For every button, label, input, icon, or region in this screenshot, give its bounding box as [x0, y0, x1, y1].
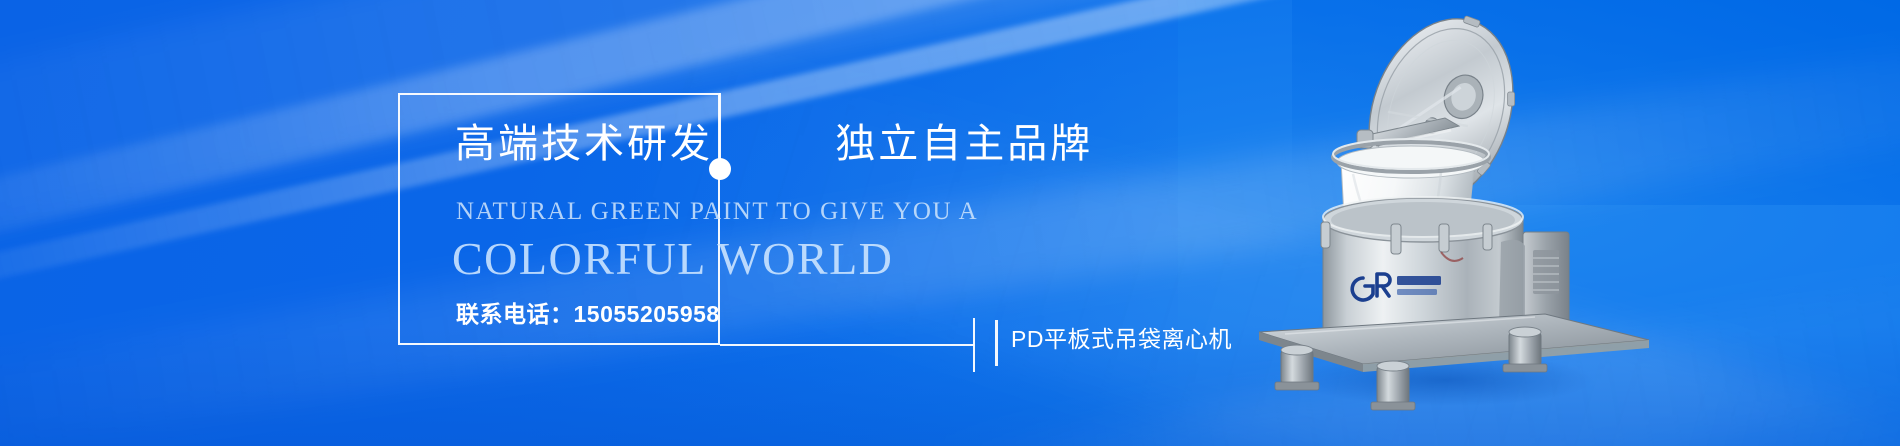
slogan-line: COLORFUL WORLD	[452, 236, 893, 282]
contact-phone: 联系电话：15055205958	[456, 303, 720, 326]
promo-banner: 高端技术研发 独立自主品牌 NATURAL GREEN PAINT TO GIV…	[0, 0, 1900, 446]
product-caption: PD平板式吊袋离心机	[1011, 328, 1232, 351]
caption-accent-bar	[995, 320, 998, 366]
caption-connector-tick	[973, 318, 975, 372]
subtitle-line: NATURAL GREEN PAINT TO GIVE YOU A	[456, 199, 978, 224]
headline-right: 独立自主品牌	[835, 122, 1093, 166]
headline: 高端技术研发 独立自主品牌	[455, 124, 1093, 164]
product-image-centrifuge	[1245, 14, 1665, 434]
headline-left: 高端技术研发	[455, 122, 713, 166]
caption-connector-line	[720, 344, 974, 346]
